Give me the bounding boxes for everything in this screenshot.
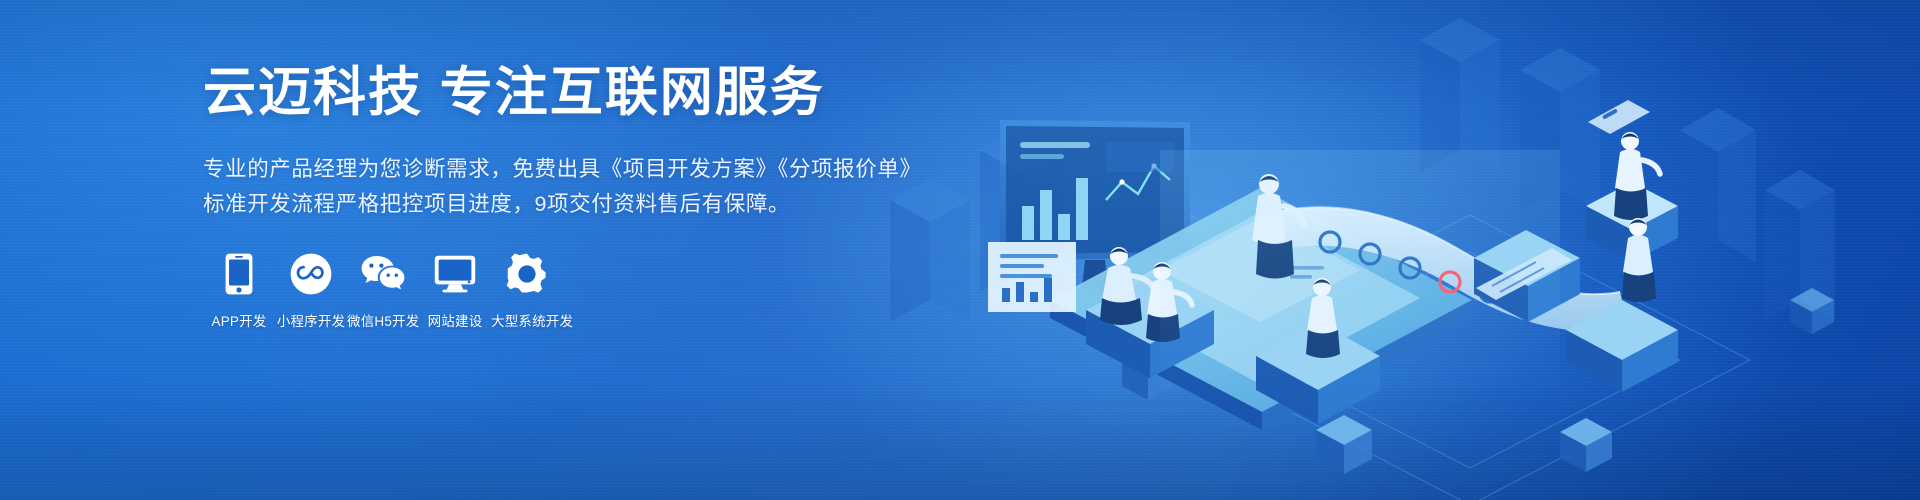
hero-banner: 云迈科技 专注互联网服务 专业的产品经理为您诊断需求，免费出具《项目开发方案》《… <box>0 0 1920 500</box>
gear-icon <box>491 252 563 296</box>
mini-program-icon <box>275 252 347 296</box>
service-item-website[interactable]: 网站建设 <box>419 252 491 330</box>
service-item-large-system[interactable]: 大型系统开发 <box>491 252 563 330</box>
service-item-mini-program[interactable]: 小程序开发 <box>275 252 347 330</box>
hero-content: 云迈科技 专注互联网服务 专业的产品经理为您诊断需求，免费出具《项目开发方案》《… <box>203 62 1103 330</box>
service-item-wechat-h5[interactable]: 微信H5开发 <box>347 252 419 330</box>
subtitle-line-1: 专业的产品经理为您诊断需求，免费出具《项目开发方案》《分项报价单》 <box>203 152 1103 187</box>
service-item-app[interactable]: APP开发 <box>203 252 275 330</box>
smartphone-icon <box>203 252 275 296</box>
service-label: APP开发 <box>203 310 275 330</box>
service-label: 大型系统开发 <box>491 310 563 330</box>
service-list: APP开发 小程序开发 <box>203 252 1103 330</box>
service-label: 网站建设 <box>419 310 491 330</box>
page-title: 云迈科技 专注互联网服务 <box>203 62 1103 125</box>
subtitle-line-2: 标准开发流程严格把控项目进度，9项交付资料售后有保障。 <box>203 187 1103 222</box>
service-label: 微信H5开发 <box>347 310 419 330</box>
wechat-icon <box>347 252 419 296</box>
monitor-icon <box>419 252 491 296</box>
hero-subtitle: 专业的产品经理为您诊断需求，免费出具《项目开发方案》《分项报价单》 标准开发流程… <box>203 152 1103 222</box>
service-label: 小程序开发 <box>275 310 347 330</box>
